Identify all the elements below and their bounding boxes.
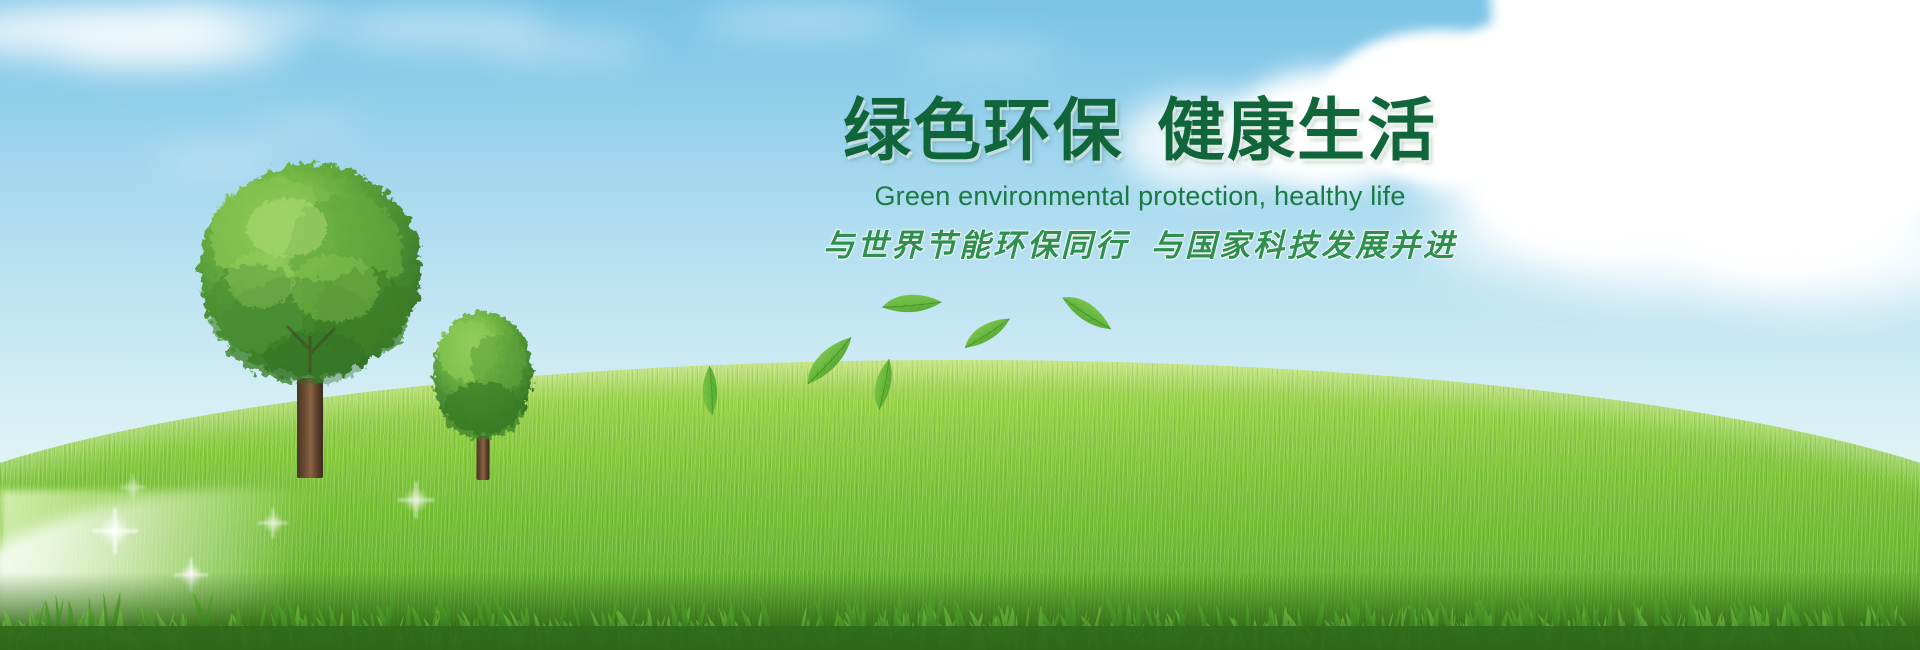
big-tree-canopy	[195, 158, 425, 408]
grass-blades	[0, 564, 1920, 650]
subtitle-cn-part-1: 与世界节能环保同行	[823, 228, 1129, 264]
subtitle-english: Green environmental protection, healthy …	[760, 181, 1520, 212]
page-title: 绿色环保健康生活	[760, 96, 1520, 167]
cloud-haze-far-right	[1560, 190, 1920, 310]
headline-part-1: 绿色环保	[843, 92, 1123, 171]
big-tree	[195, 158, 425, 478]
subtitle-chinese-calligraphy: 与世界节能环保同行与国家科技发展并进	[760, 220, 1520, 265]
small-tree	[428, 305, 538, 480]
headline-text-block: 绿色环保健康生活 Green environmental protection,…	[760, 96, 1520, 265]
eco-hero-banner: 绿色环保健康生活 Green environmental protection,…	[0, 0, 1920, 650]
subtitle-cn-part-2: 与国家科技发展并进	[1151, 228, 1457, 264]
small-tree-canopy	[428, 305, 538, 445]
headline-part-2: 健康生活	[1157, 92, 1437, 171]
